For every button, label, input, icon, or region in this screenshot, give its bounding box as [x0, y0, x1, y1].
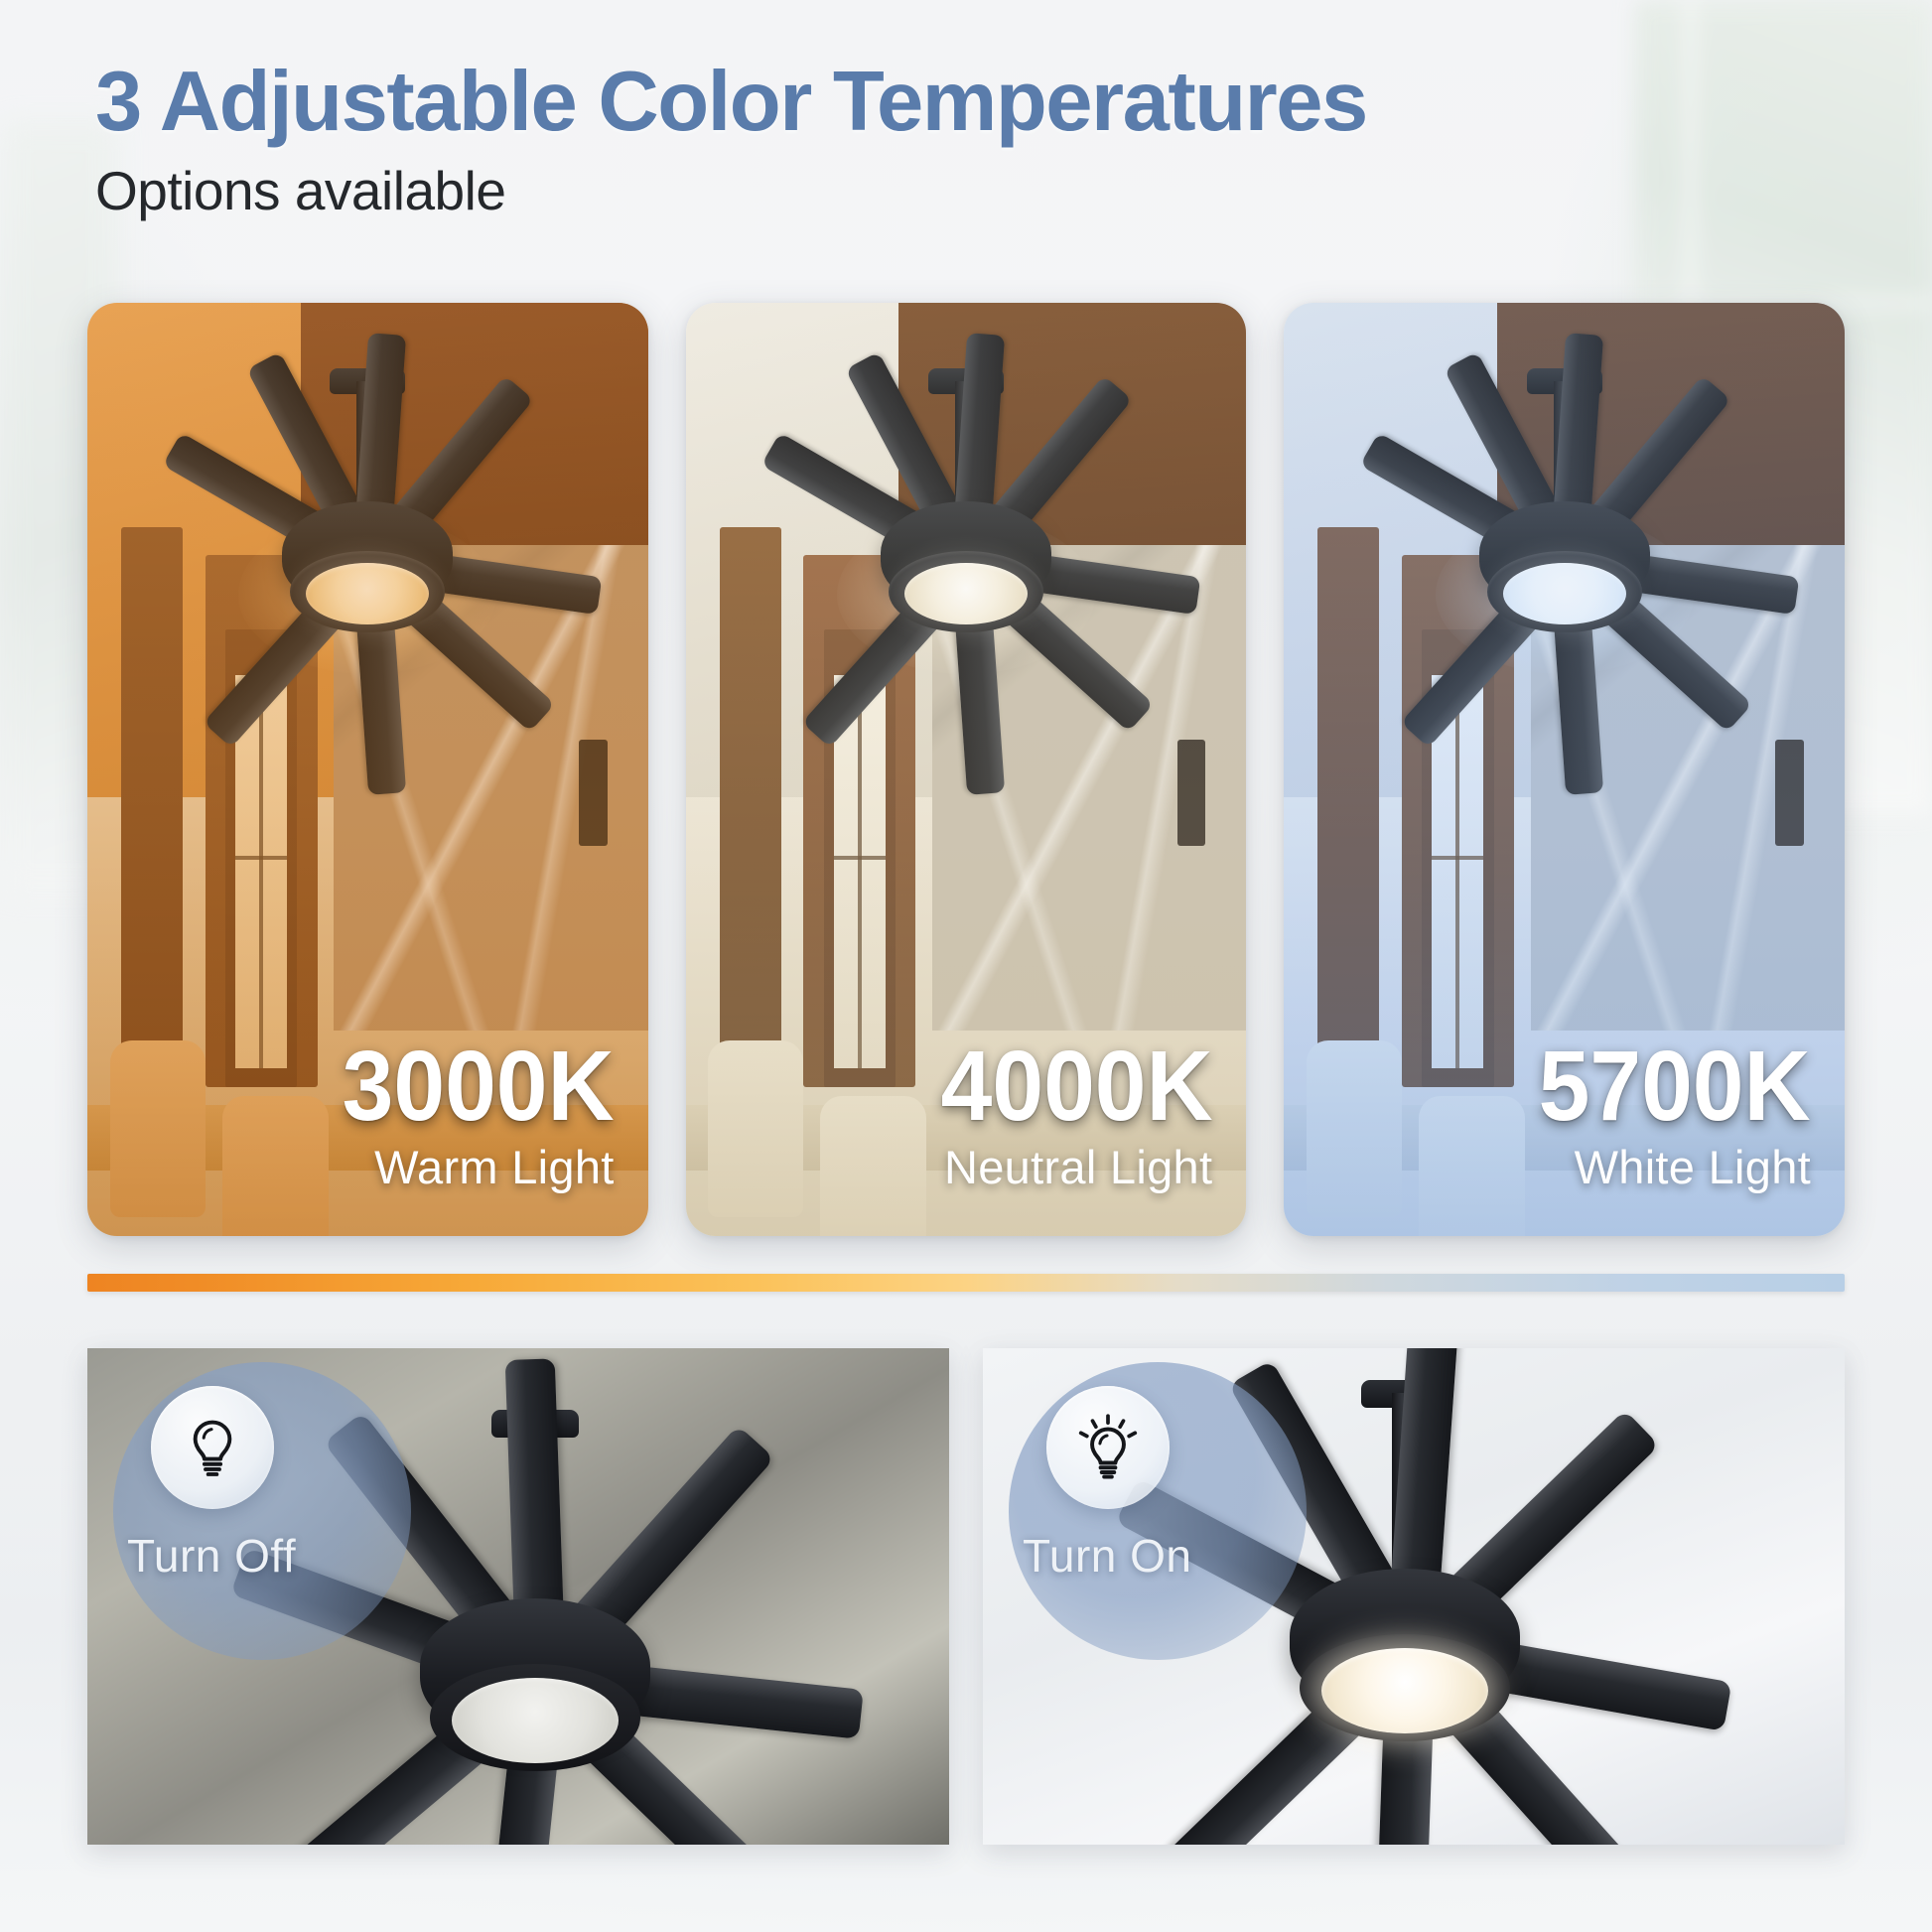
chair: [708, 1040, 803, 1218]
temperature-label: 3000K Warm Light: [322, 1040, 615, 1194]
light-state-panel-turn-off[interactable]: Turn Off: [87, 1348, 949, 1845]
chair: [820, 1096, 926, 1236]
led-light-disc: [1503, 563, 1626, 624]
light-name: Warm Light: [322, 1140, 615, 1194]
badge-backdrop: [1009, 1362, 1307, 1660]
light-state-badge[interactable]: Turn On: [1009, 1362, 1346, 1700]
temperature-label: 4000K Neutral Light: [920, 1040, 1213, 1194]
kelvin-value: 5700K: [1539, 1040, 1811, 1132]
led-light-disc: [904, 563, 1028, 624]
cabinet: [1317, 527, 1379, 1049]
chair: [1419, 1096, 1525, 1236]
light-state-panel-row: Turn Off: [87, 1348, 1845, 1845]
chair: [110, 1040, 206, 1218]
temperature-label: 5700K White Light: [1518, 1040, 1811, 1194]
led-light-disc: [452, 1678, 619, 1763]
light-state-label: Turn On: [1023, 1529, 1192, 1583]
color-gradient-divider: [87, 1274, 1845, 1292]
color-temperature-card-row: 3000K Warm Light: [87, 303, 1845, 1236]
light-state-label: Turn Off: [127, 1529, 296, 1583]
cabinet: [121, 527, 183, 1049]
page-subtitle: Options available: [95, 161, 1367, 221]
wall-outlet: [1775, 740, 1803, 847]
light-name: White Light: [1518, 1140, 1811, 1194]
page-title: 3 Adjustable Color Temperatures: [95, 58, 1367, 147]
color-temperature-card-3000k[interactable]: 3000K Warm Light: [87, 303, 648, 1236]
chair: [222, 1096, 329, 1236]
page-header: 3 Adjustable Color Temperatures Options …: [95, 58, 1367, 221]
light-bulb-off-icon[interactable]: [151, 1386, 274, 1509]
badge-backdrop: [113, 1362, 411, 1660]
wall-outlet: [1177, 740, 1205, 847]
light-bulb-on-icon[interactable]: [1046, 1386, 1170, 1509]
wall-outlet: [579, 740, 607, 847]
cabinet: [720, 527, 781, 1049]
led-light-disc: [1321, 1648, 1488, 1733]
kelvin-value: 4000K: [940, 1040, 1212, 1132]
light-state-badge[interactable]: Turn Off: [113, 1362, 451, 1700]
color-temperature-card-5700k[interactable]: 5700K White Light: [1284, 303, 1845, 1236]
chair: [1307, 1040, 1402, 1218]
kelvin-value: 3000K: [343, 1040, 615, 1132]
color-temperature-card-4000k[interactable]: 4000K Neutral Light: [686, 303, 1247, 1236]
light-name: Neutral Light: [920, 1140, 1213, 1194]
light-state-panel-turn-on[interactable]: Turn On: [983, 1348, 1845, 1845]
